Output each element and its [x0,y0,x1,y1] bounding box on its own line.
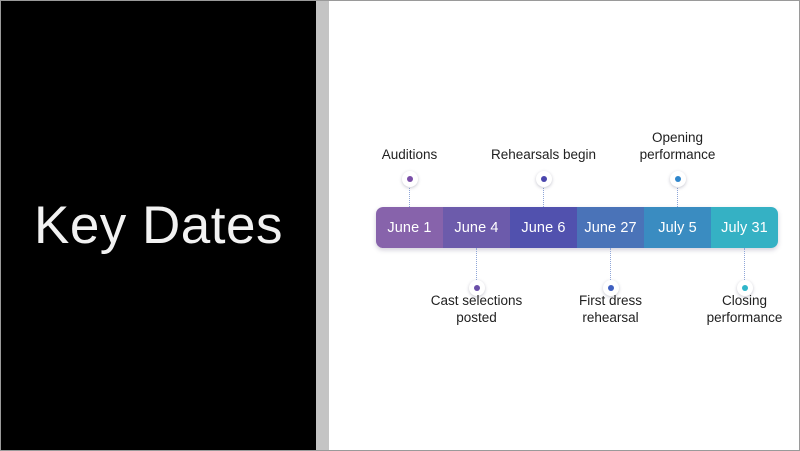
content-panel: June 1 June 4 June 6 June 27 July 5 July… [329,1,800,451]
marker-dot-icon[interactable] [670,171,686,187]
marker-dot-core [608,285,614,291]
timeline-segment[interactable]: June 4 [443,207,510,248]
panel-divider [316,1,329,451]
timeline-segment[interactable]: July 5 [644,207,711,248]
marker-dot-core [407,176,413,182]
slide-canvas: Key Dates June 1 June 4 June 6 June 27 J… [0,0,800,451]
marker-stem-line [476,248,478,282]
marker-dot-icon[interactable] [402,171,418,187]
marker-stem-line [610,248,612,282]
page-title: Key Dates [1,197,316,255]
title-panel: Key Dates [1,1,316,451]
marker-stem-line [744,248,746,282]
timeline-callout-label: Opening performance [593,129,763,163]
timeline-segment[interactable]: June 6 [510,207,577,248]
timeline-segment[interactable]: July 31 [711,207,778,248]
timeline-graphic: June 1 June 4 June 6 June 27 July 5 July… [329,1,800,451]
marker-dot-core [474,285,480,291]
timeline-segment[interactable]: June 27 [577,207,644,248]
marker-dot-core [541,176,547,182]
marker-dot-core [675,176,681,182]
timeline-bar: June 1 June 4 June 6 June 27 July 5 July… [376,207,778,248]
timeline-segment[interactable]: June 1 [376,207,443,248]
marker-dot-core [742,285,748,291]
marker-dot-icon[interactable] [536,171,552,187]
timeline-callout-label: Closing performance [660,292,800,326]
